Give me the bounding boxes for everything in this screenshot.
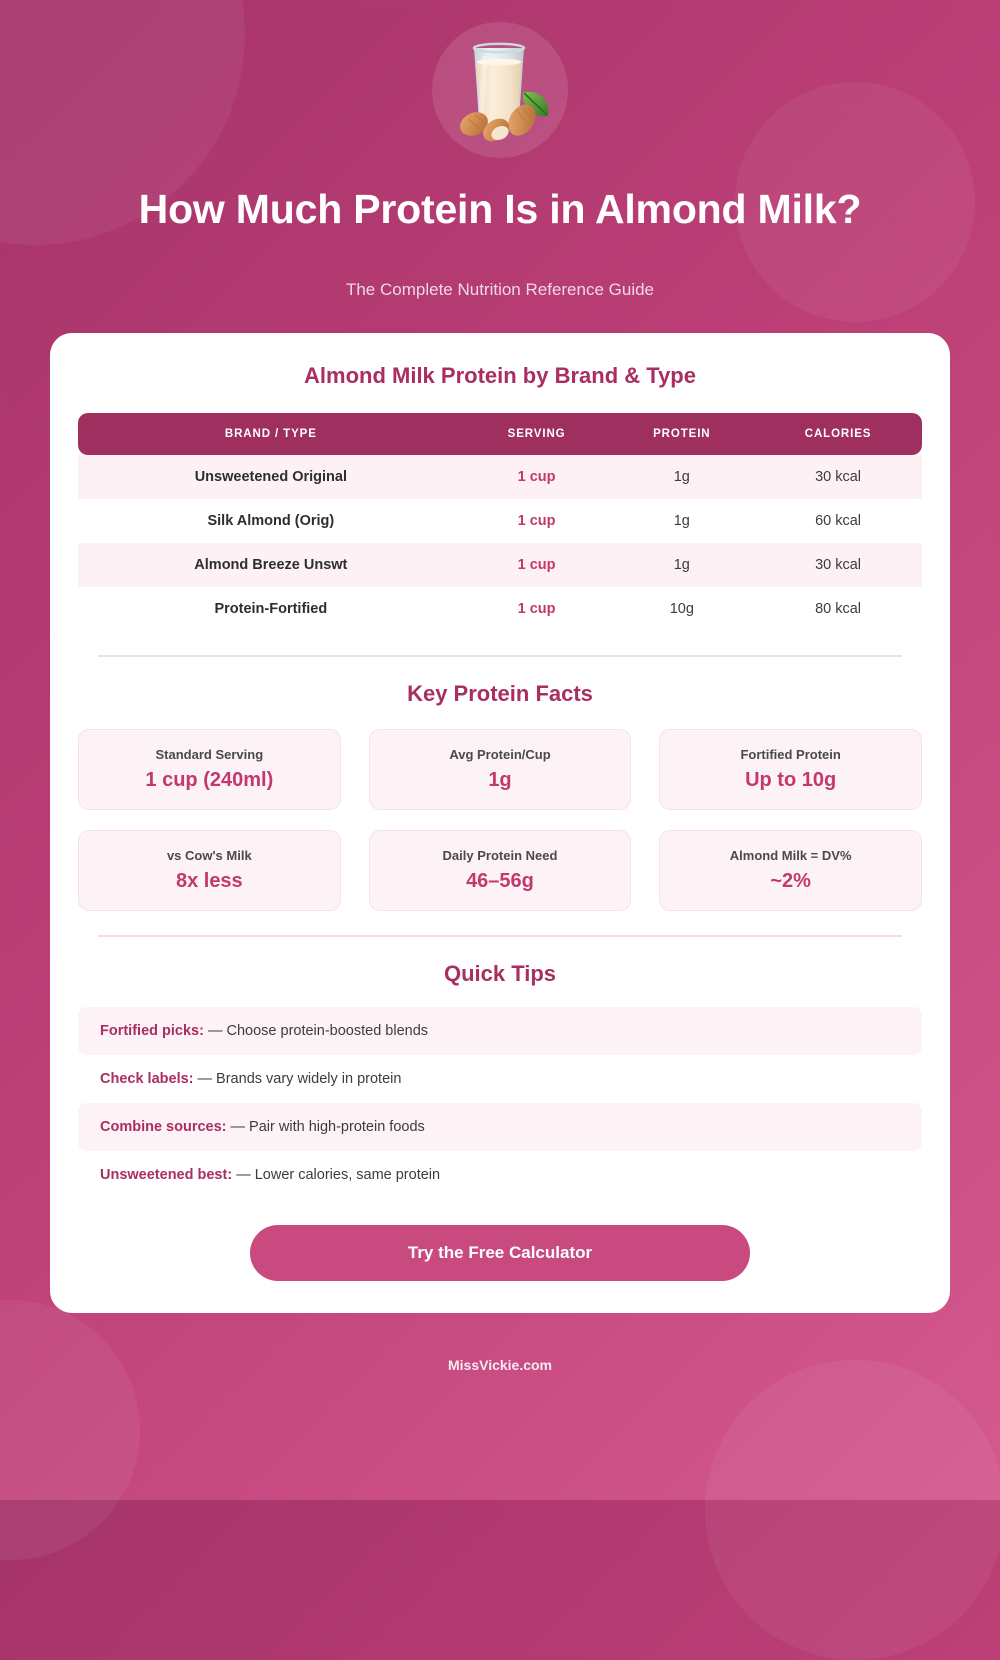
list-item: Fortified picks: — Choose protein-booste… [78, 1007, 922, 1055]
column-header-calories: CALORIES [754, 413, 922, 455]
fact-card-avg-protein: Avg Protein/Cup 1g [369, 729, 632, 810]
footer-brand: MissVickie.com [448, 1357, 552, 1373]
tip-text: — Choose protein-boosted blends [208, 1023, 428, 1039]
protein-table-wrapper: BRAND / TYPE SERVING PROTEIN CALORIES Un… [78, 413, 922, 631]
section-divider-top [98, 655, 902, 657]
cell-serving: 1 cup [464, 543, 610, 587]
almond-milk-glass-illustration [444, 32, 556, 148]
hero-badge [432, 22, 568, 158]
cell-calories: 80 kcal [754, 587, 922, 631]
tip-label: Fortified picks: [100, 1023, 204, 1039]
cell-serving: 1 cup [464, 499, 610, 543]
fact-label: vs Cow's Milk [87, 848, 332, 863]
cell-brand: Protein-Fortified [78, 587, 464, 631]
table-body: Unsweetened Original 1 cup 1g 30 kcal Si… [78, 455, 922, 631]
table-row: Silk Almond (Orig) 1 cup 1g 60 kcal [78, 499, 922, 543]
fact-card-daily-protein-need: Daily Protein Need 46–56g [369, 830, 632, 911]
table-row: Unsweetened Original 1 cup 1g 30 kcal [78, 455, 922, 499]
fact-label: Fortified Protein [668, 747, 913, 762]
cell-protein: 1g [609, 543, 754, 587]
page-title: How Much Protein Is in Almond Milk? [0, 184, 1000, 234]
cell-protein: 1g [609, 499, 754, 543]
fact-card-standard-serving: Standard Serving 1 cup (240ml) [78, 729, 341, 810]
cell-protein: 10g [609, 587, 754, 631]
facts-section-title: Key Protein Facts [50, 681, 950, 707]
background-circle-bottom-left [0, 1300, 140, 1560]
tip-text: — Lower calories, same protein [236, 1167, 440, 1183]
page-subtitle: The Complete Nutrition Reference Guide [0, 280, 1000, 300]
tips-section-title: Quick Tips [50, 961, 950, 987]
hero-header: How Much Protein Is in Almond Milk? The … [0, 0, 1000, 300]
fact-card-daily-value-percent: Almond Milk = DV% ~2% [659, 830, 922, 911]
table-head: BRAND / TYPE SERVING PROTEIN CALORIES [78, 413, 922, 455]
fact-value: 8x less [87, 870, 332, 893]
try-free-calculator-button[interactable]: Try the Free Calculator [250, 1225, 750, 1281]
list-item: Unsweetened best: — Lower calories, same… [78, 1151, 922, 1199]
column-header-serving: SERVING [464, 413, 610, 455]
cell-calories: 30 kcal [754, 455, 922, 499]
table-row: Protein-Fortified 1 cup 10g 80 kcal [78, 587, 922, 631]
fact-value: 46–56g [378, 870, 623, 893]
tip-text: — Brands vary widely in protein [198, 1071, 402, 1087]
fact-label: Avg Protein/Cup [378, 747, 623, 762]
table-row: Almond Breeze Unswt 1 cup 1g 30 kcal [78, 543, 922, 587]
fact-value: 1g [378, 769, 623, 792]
tip-label: Check labels: [100, 1071, 194, 1087]
fact-label: Daily Protein Need [378, 848, 623, 863]
cta-wrapper: Try the Free Calculator [50, 1225, 950, 1281]
tip-label: Unsweetened best: [100, 1167, 232, 1183]
fact-value: ~2% [668, 870, 913, 893]
cell-brand: Almond Breeze Unswt [78, 543, 464, 587]
cell-calories: 30 kcal [754, 543, 922, 587]
list-item: Combine sources: — Pair with high-protei… [78, 1103, 922, 1151]
facts-grid: Standard Serving 1 cup (240ml) Avg Prote… [78, 729, 922, 911]
cell-serving: 1 cup [464, 455, 610, 499]
fact-value: Up to 10g [668, 769, 913, 792]
table-section-title: Almond Milk Protein by Brand & Type [50, 363, 950, 389]
table-header-row: BRAND / TYPE SERVING PROTEIN CALORIES [78, 413, 922, 455]
tip-label: Combine sources: [100, 1119, 227, 1135]
section-divider-bottom [98, 935, 902, 937]
tip-text: — Pair with high-protein foods [231, 1119, 425, 1135]
column-header-protein: PROTEIN [609, 413, 754, 455]
cell-serving: 1 cup [464, 587, 610, 631]
tips-list: Fortified picks: — Choose protein-booste… [78, 1007, 922, 1199]
footer: MissVickie.com [0, 1357, 1000, 1373]
cell-brand: Unsweetened Original [78, 455, 464, 499]
fact-label: Almond Milk = DV% [668, 848, 913, 863]
protein-table: BRAND / TYPE SERVING PROTEIN CALORIES Un… [78, 413, 922, 631]
fact-value: 1 cup (240ml) [87, 769, 332, 792]
cell-brand: Silk Almond (Orig) [78, 499, 464, 543]
fact-card-fortified-protein: Fortified Protein Up to 10g [659, 729, 922, 810]
column-header-brand: BRAND / TYPE [78, 413, 464, 455]
fact-label: Standard Serving [87, 747, 332, 762]
content-card: Almond Milk Protein by Brand & Type BRAN… [50, 333, 950, 1313]
list-item: Check labels: — Brands vary widely in pr… [78, 1055, 922, 1103]
background-circle-bottom-right [705, 1360, 1000, 1660]
cell-calories: 60 kcal [754, 499, 922, 543]
fact-card-vs-cows-milk: vs Cow's Milk 8x less [78, 830, 341, 911]
cell-protein: 1g [609, 455, 754, 499]
